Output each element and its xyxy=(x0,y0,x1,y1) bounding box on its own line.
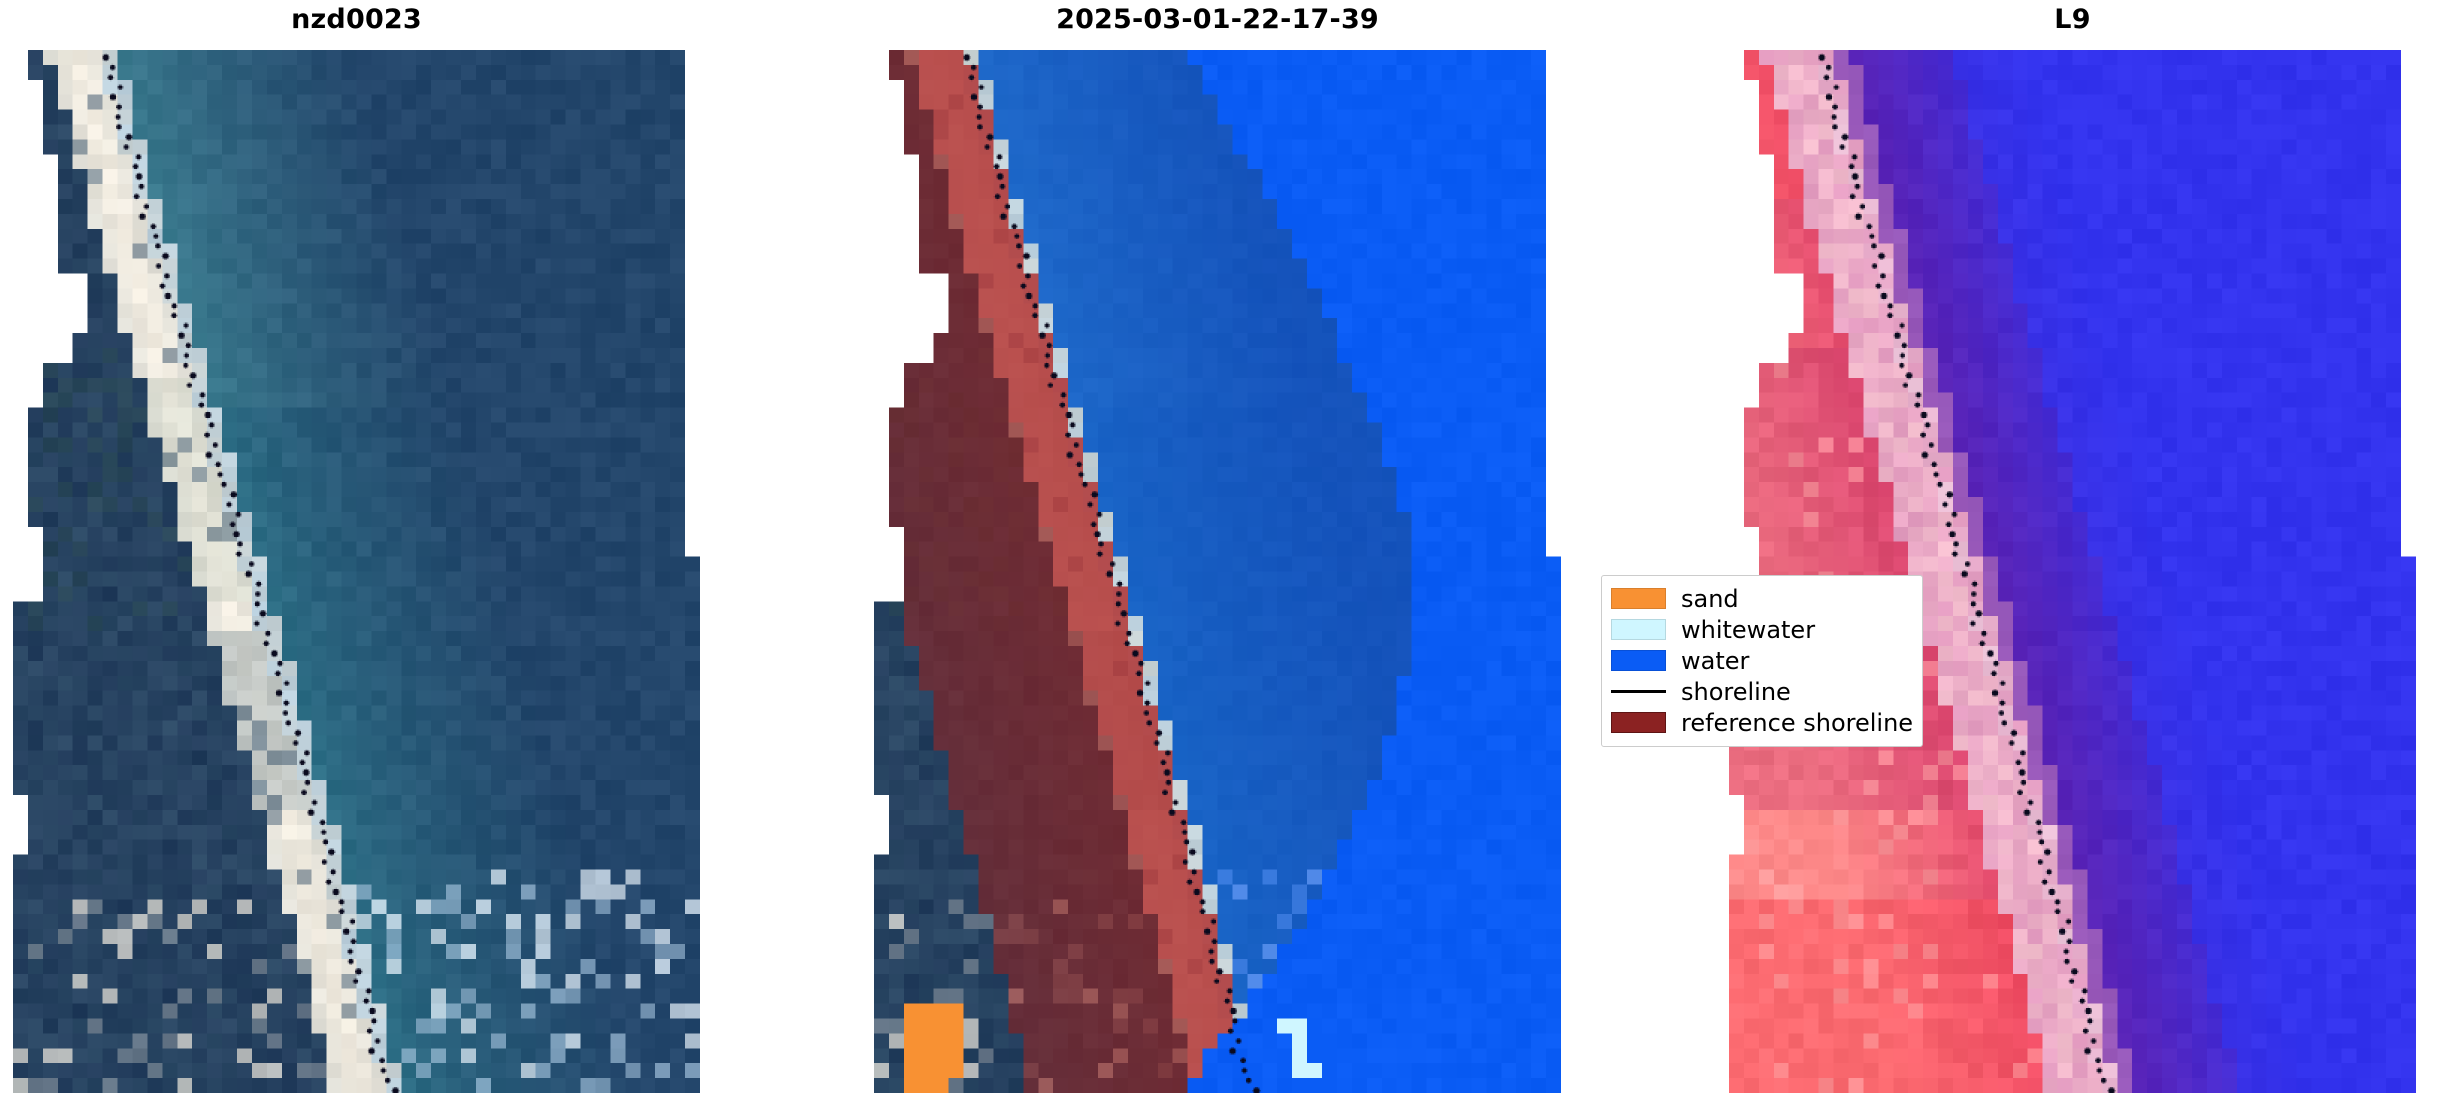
panel-classification-overlay: 2025-03-01-22-17-39 xyxy=(874,0,1561,1093)
legend-swatch-whitewater-icon xyxy=(1611,619,1666,640)
legend-label-sand: sand xyxy=(1681,587,1739,611)
satellite-image-classification xyxy=(874,50,1561,1093)
panel-title-rgb: nzd0023 xyxy=(13,4,700,35)
panel-false-color-nir: L9 xyxy=(1729,0,2416,1093)
legend-item-water: water xyxy=(1611,645,1913,676)
legend-label-whitewater: whitewater xyxy=(1681,618,1815,642)
panel-rgb-image: nzd0023 xyxy=(13,0,700,1093)
legend-item-shoreline: shoreline xyxy=(1611,676,1913,707)
panel-title-nir: L9 xyxy=(1729,4,2416,35)
panel-canvas-wrap-classification xyxy=(874,50,1561,1093)
legend-swatch-shoreline-icon xyxy=(1611,681,1666,702)
legend-swatch-water-icon xyxy=(1611,650,1666,671)
figure-root: nzd0023 2025-03-01-22-17-39 L9 sand whit… xyxy=(0,0,2460,1104)
satellite-image-nir xyxy=(1729,50,2416,1093)
legend-label-water: water xyxy=(1681,649,1749,673)
panel-canvas-wrap-nir xyxy=(1729,50,2416,1093)
panel-canvas-wrap-rgb xyxy=(13,50,700,1093)
legend-swatch-reference-shoreline-icon xyxy=(1611,712,1666,733)
legend: sand whitewater water shoreline referenc… xyxy=(1601,575,1923,747)
legend-label-shoreline: shoreline xyxy=(1681,680,1791,704)
satellite-image-rgb xyxy=(13,50,700,1093)
legend-item-sand: sand xyxy=(1611,583,1913,614)
legend-swatch-sand-icon xyxy=(1611,588,1666,609)
legend-label-reference-shoreline: reference shoreline xyxy=(1681,711,1913,735)
legend-item-whitewater: whitewater xyxy=(1611,614,1913,645)
legend-item-reference-shoreline: reference shoreline xyxy=(1611,707,1913,738)
panel-title-classification: 2025-03-01-22-17-39 xyxy=(874,4,1561,35)
